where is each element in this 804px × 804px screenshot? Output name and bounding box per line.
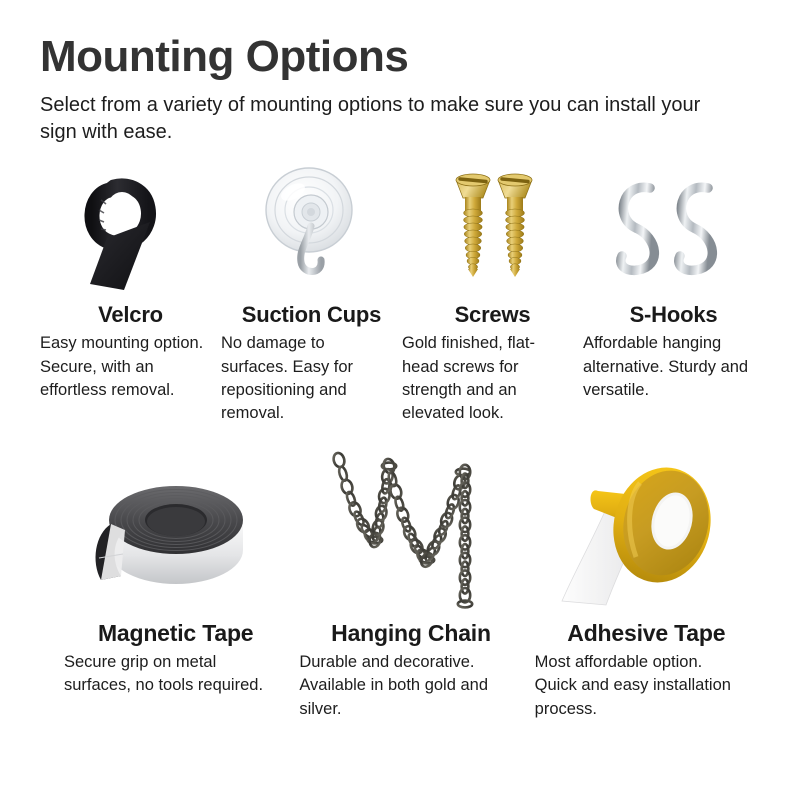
page-subtitle: Select from a variety of mounting option… (40, 92, 730, 146)
mounting-options-page: Mounting Options Select from a variety o… (0, 0, 804, 804)
option-description: Secure grip on metal surfaces, no tools … (58, 651, 293, 698)
suction-cup-hook-image (221, 160, 402, 290)
option-card-s-hooks[interactable]: S-Hooks Affordable hanging alternative. … (583, 160, 764, 426)
option-card-velcro[interactable]: Velcro Easy mounting option. Secure, wit… (40, 160, 221, 426)
magnetic-tape-roll-image (58, 448, 293, 608)
option-description: Gold finished, flat-head screws for stre… (402, 332, 583, 426)
option-title: Suction Cups (221, 302, 402, 328)
option-title: S-Hooks (583, 302, 764, 328)
option-card-magnetic-tape[interactable]: Magnetic Tape Secure grip on metal surfa… (58, 448, 293, 721)
mounting-options-row-1: Velcro Easy mounting option. Secure, wit… (40, 160, 764, 426)
option-description: Affordable hanging alternative. Sturdy a… (583, 332, 764, 402)
mounting-options-row-2: Magnetic Tape Secure grip on metal surfa… (40, 448, 764, 721)
adhesive-tape-roll-image (529, 448, 764, 608)
option-card-screws[interactable]: Screws Gold finished, flat-head screws f… (402, 160, 583, 426)
velcro-strip-image (40, 160, 221, 290)
option-card-hanging-chain[interactable]: Hanging Chain Durable and decorative. Av… (293, 448, 528, 721)
option-description: Easy mounting option. Secure, with an ef… (40, 332, 221, 402)
option-card-suction-cups[interactable]: Suction Cups No damage to surfaces. Easy… (221, 160, 402, 426)
s-hooks-image (583, 160, 764, 290)
option-card-adhesive-tape[interactable]: Adhesive Tape Most affordable option. Qu… (529, 448, 764, 721)
gold-screws-image (402, 160, 583, 290)
option-description: Durable and decorative. Available in bot… (293, 651, 528, 721)
option-title: Adhesive Tape (529, 620, 764, 647)
option-title: Velcro (40, 302, 221, 328)
hanging-chain-image (293, 448, 528, 608)
option-title: Magnetic Tape (58, 620, 293, 647)
option-title: Hanging Chain (293, 620, 528, 647)
option-description: Most affordable option. Quick and easy i… (529, 651, 764, 721)
option-description: No damage to surfaces. Easy for repositi… (221, 332, 402, 426)
page-title: Mounting Options (40, 34, 764, 80)
option-title: Screws (402, 302, 583, 328)
